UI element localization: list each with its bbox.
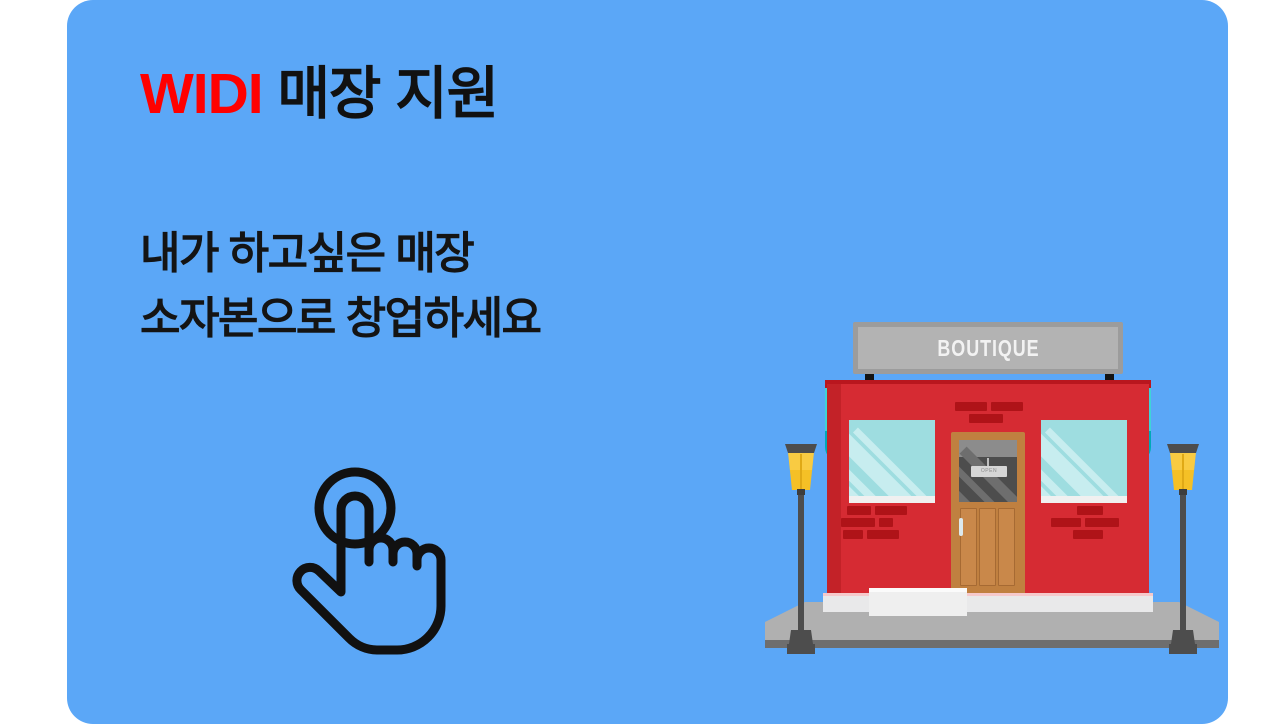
shop-facade: OPEN bbox=[827, 384, 1149, 612]
brick bbox=[879, 518, 893, 527]
door-open-sign: OPEN bbox=[971, 466, 1007, 477]
shop-window-left bbox=[849, 420, 935, 496]
brick bbox=[847, 506, 871, 515]
shop-sign-text: BOUTIQUE bbox=[937, 335, 1039, 362]
street-lamp-right bbox=[1161, 430, 1205, 660]
banner-subtitle: 내가 하고싶은 매장 소자본으로 창업하세요 bbox=[140, 221, 780, 351]
brick bbox=[991, 402, 1023, 411]
hand-tap-cursor-icon[interactable] bbox=[289, 466, 449, 656]
banner-subtitle-line-1: 내가 하고싶은 매장 bbox=[140, 221, 780, 286]
page-title: WIDI 매장 지원 bbox=[140, 62, 780, 128]
door-panel bbox=[998, 508, 1015, 586]
brick bbox=[1073, 530, 1103, 539]
shop-window-right bbox=[1041, 420, 1127, 496]
screenshot-stage: WIDI 매장 지원 내가 하고싶은 매장 소자본으로 창업하세요 bbox=[0, 0, 1280, 724]
door-panel bbox=[979, 508, 996, 586]
brick bbox=[1051, 518, 1081, 527]
brick bbox=[841, 518, 875, 527]
street-lamp-left bbox=[779, 430, 823, 660]
shop-illustration: BOUTIQUE bbox=[757, 300, 1227, 680]
door-handle[interactable] bbox=[959, 518, 963, 536]
page-title-rest: 매장 지원 bbox=[263, 62, 498, 126]
banner-text-block: WIDI 매장 지원 내가 하고싶은 매장 소자본으로 창업하세요 bbox=[140, 62, 780, 351]
brick bbox=[875, 506, 907, 515]
banner-subtitle-line-2: 소자본으로 창업하세요 bbox=[140, 286, 780, 351]
shop-signboard: BOUTIQUE bbox=[853, 322, 1123, 374]
brand-name: WIDI bbox=[140, 62, 263, 126]
door-step bbox=[869, 592, 967, 616]
brick bbox=[1085, 518, 1119, 527]
brick bbox=[1077, 506, 1103, 515]
facade-shadow bbox=[827, 384, 841, 612]
brick bbox=[843, 530, 863, 539]
promo-banner-card[interactable]: WIDI 매장 지원 내가 하고싶은 매장 소자본으로 창업하세요 bbox=[67, 0, 1228, 724]
door-glass-panel: OPEN bbox=[959, 440, 1017, 502]
shop-door[interactable]: OPEN bbox=[951, 432, 1025, 596]
window-sill-right bbox=[1041, 496, 1127, 503]
door-open-sign-text: OPEN bbox=[971, 466, 1007, 477]
brick bbox=[955, 402, 987, 411]
brick bbox=[867, 530, 899, 539]
brick bbox=[969, 414, 1003, 423]
window-sill-left bbox=[849, 496, 935, 503]
